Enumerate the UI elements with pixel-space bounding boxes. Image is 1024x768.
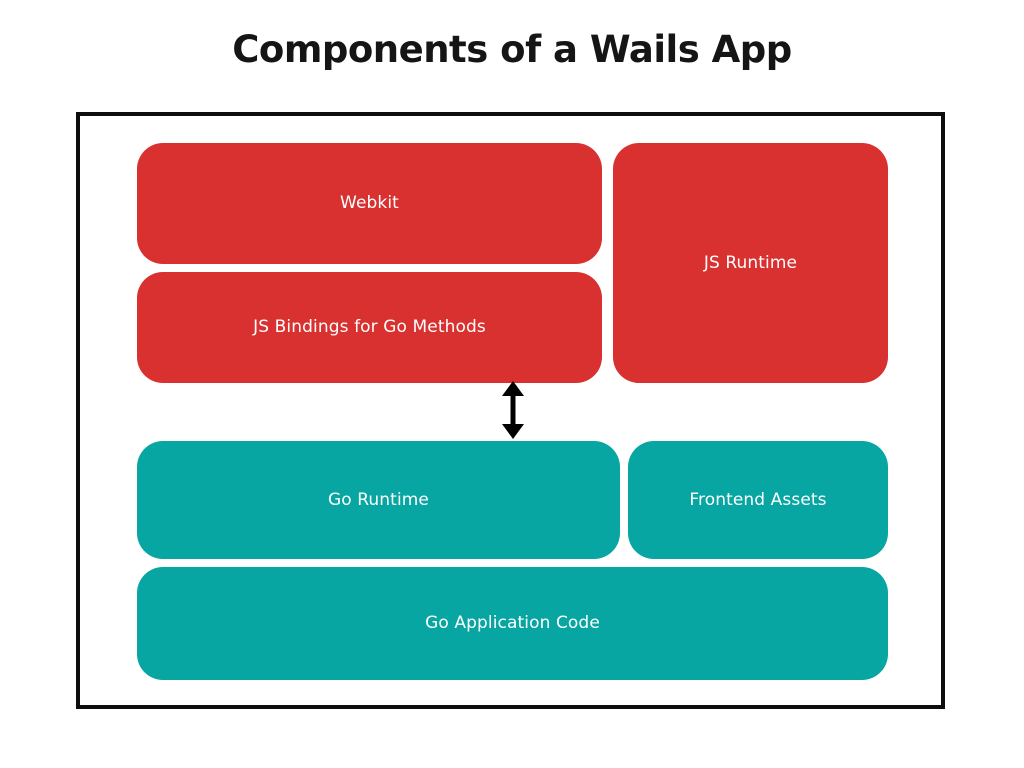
double-arrow-icon bbox=[497, 381, 529, 439]
component-box-webkit[interactable]: Webkit bbox=[137, 143, 602, 264]
component-box-go-application-code[interactable]: Go Application Code bbox=[137, 567, 888, 680]
component-label-js-runtime: JS Runtime bbox=[694, 253, 807, 273]
component-label-frontend-assets: Frontend Assets bbox=[679, 490, 836, 510]
arrow-head-down bbox=[502, 424, 524, 439]
component-label-webkit: Webkit bbox=[330, 193, 409, 213]
page-title: Components of a Wails App bbox=[0, 28, 1024, 71]
component-box-js-runtime[interactable]: JS Runtime bbox=[613, 143, 888, 383]
component-label-go-application-code: Go Application Code bbox=[415, 613, 610, 633]
component-box-frontend-assets[interactable]: Frontend Assets bbox=[628, 441, 888, 559]
diagram-canvas: Components of a Wails App Webkit JS Bind… bbox=[0, 0, 1024, 768]
component-box-js-bindings-for-go-methods[interactable]: JS Bindings for Go Methods bbox=[137, 272, 602, 383]
component-label-js-bindings-for-go-methods: JS Bindings for Go Methods bbox=[243, 317, 496, 337]
component-label-go-runtime: Go Runtime bbox=[318, 490, 439, 510]
arrow-head-up bbox=[502, 381, 524, 396]
component-box-go-runtime[interactable]: Go Runtime bbox=[137, 441, 620, 559]
